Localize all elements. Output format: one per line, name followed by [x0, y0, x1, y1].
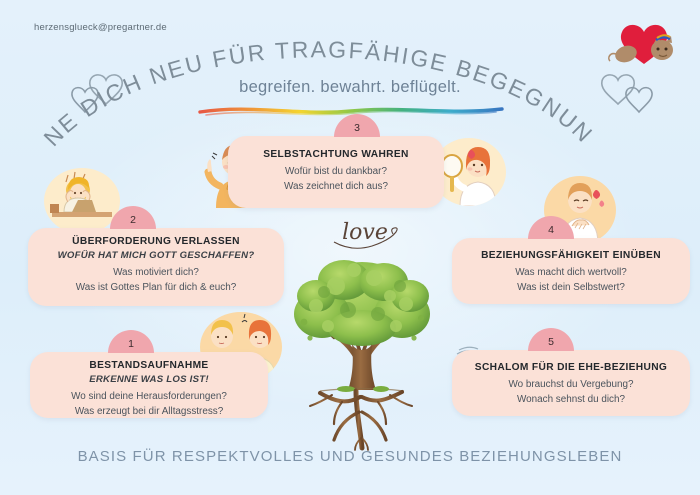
step-card-4[interactable]: BEZIEHUNGSFÄHIGKEIT EINÜBEN Was macht di…: [452, 238, 690, 304]
step-question-4-1: Was macht dich wertvoll?: [462, 266, 680, 281]
step-title-1: BESTANDSAUFNAHME: [40, 359, 258, 373]
step-card-3[interactable]: SELBSTACHTUNG WAHREN Wofür bist du dankb…: [228, 136, 444, 208]
step-question-3-1: Wofür bist du dankbar?: [238, 165, 434, 180]
step-title-2: ÜBERFORDERUNG VERLASSEN: [38, 235, 274, 249]
step-question-5-2: Wonach sehnst du dich?: [462, 393, 680, 408]
step-card-5[interactable]: SCHALOM FÜR DIE EHE-BEZIEHUNG Wo brauchs…: [452, 350, 690, 416]
step-question-1-1: Wo sind deine Herausforderungen?: [40, 390, 258, 405]
step-question-4-2: Was ist dein Selbstwert?: [462, 281, 680, 296]
love-script-word: love: [322, 212, 408, 250]
svg-text:love: love: [342, 220, 388, 245]
step-subtitle-1: ERKENNE WAS LOS IST!: [40, 373, 258, 387]
step-question-3-2: Was zeichnet dich aus?: [238, 180, 434, 195]
illustration-stressed-woman-at-laptop: [44, 168, 120, 234]
step-question-2-1: Was motiviert dich?: [38, 266, 274, 281]
step-title-5: SCHALOM FÜR DIE EHE-BEZIEHUNG: [462, 361, 680, 375]
step-title-3: SELBSTACHTUNG WAHREN: [238, 148, 434, 162]
step-question-2-2: Was ist Gottes Plan für dich & euch?: [38, 281, 274, 296]
infographic-canvas: herzensglueck@pregartner.de Ö: [0, 0, 700, 495]
step-card-1[interactable]: BESTANDSAUFNAHME ERKENNE WAS LOS IST! Wo…: [30, 352, 268, 418]
step-card-2[interactable]: ÜBERFORDERUNG VERLASSEN WOFÜR HAT MICH G…: [28, 228, 284, 306]
footer-tagline: BASIS FÜR RESPEKTVOLLES UND GESUNDES BEZ…: [0, 448, 700, 465]
step-question-1-2: Was erzeugt bei dir Alltagsstress?: [40, 405, 258, 420]
tree-with-roots-illustration: [286, 252, 438, 452]
step-subtitle-2: WOFÜR HAT MICH GOTT GESCHAFFEN?: [38, 249, 274, 263]
subtitle: begreifen. bewahrt. beflügelt.: [0, 78, 700, 97]
step-title-4: BEZIEHUNGSFÄHIGKEIT EINÜBEN: [462, 249, 680, 263]
step-question-5-1: Wo brauchst du Vergebung?: [462, 378, 680, 393]
